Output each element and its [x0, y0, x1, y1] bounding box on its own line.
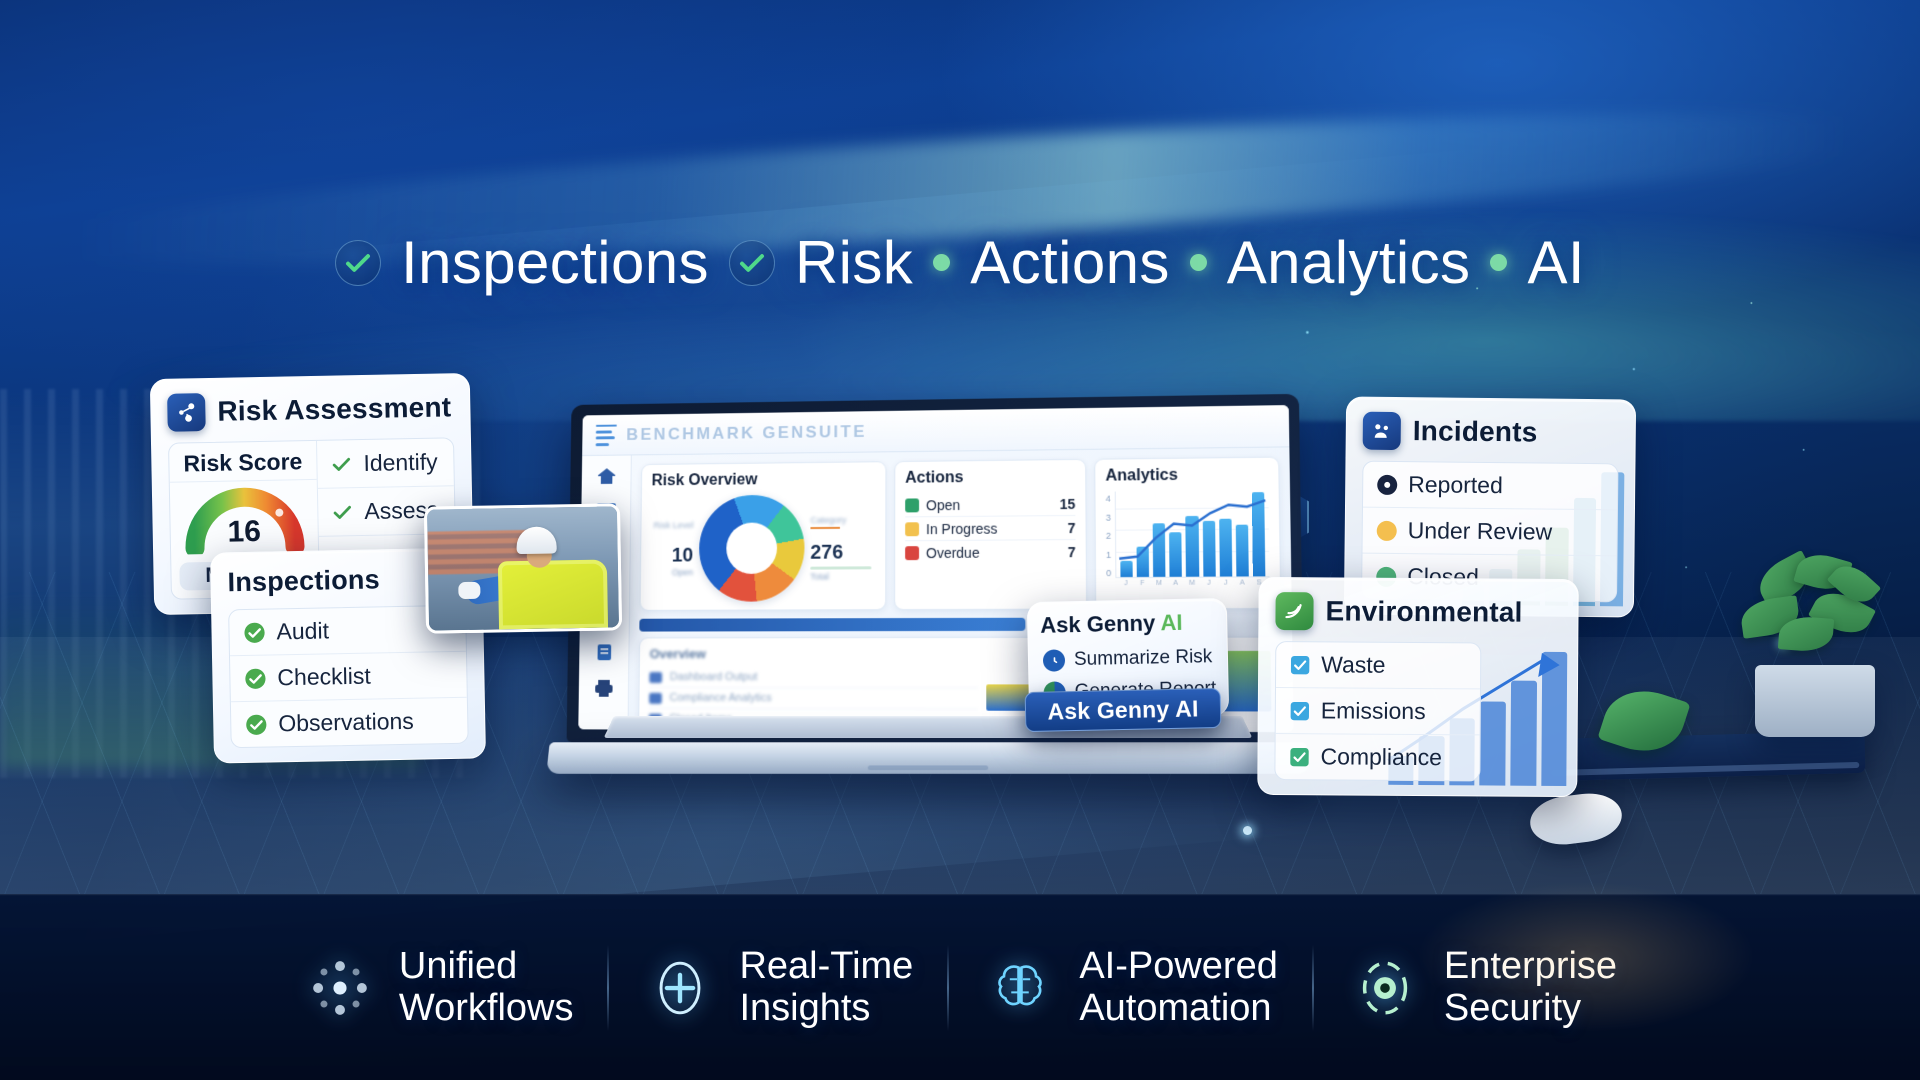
ask-genny-action-summarize-risk[interactable]: Summarize Risk	[1041, 641, 1216, 677]
check-circle-icon	[245, 713, 267, 735]
actions-row-open[interactable]: Open 15	[905, 492, 1075, 517]
sparkle	[1243, 826, 1252, 835]
analytics-panel: Analytics 4 3 2 1 0	[1094, 457, 1281, 610]
analytics-y-tick: 2	[1106, 531, 1111, 541]
feature-label: Unified Workflows	[399, 946, 574, 1028]
ask-genny-title-ai: AI	[1160, 610, 1183, 635]
analytics-x-tick: J	[1219, 580, 1232, 587]
feature-label-line2: Insights	[739, 988, 913, 1029]
desk-notebook	[1545, 731, 1866, 781]
dashboard-top-row: Risk Overview Risk Level 10 Open	[640, 457, 1282, 611]
lower-row-label: Dashboard Output	[670, 671, 758, 683]
ask-genny-title-main: Ask Genny	[1040, 610, 1161, 638]
environmental-item-label: Waste	[1321, 651, 1386, 678]
risk-score-label: Risk Score	[169, 441, 317, 483]
photo-safety-vest	[498, 560, 607, 630]
risk-overview-title: Risk Overview	[652, 470, 876, 490]
risk-overview-panel: Risk Overview Risk Level 10 Open	[640, 461, 887, 611]
feature-label: Enterprise Security	[1444, 946, 1617, 1028]
feature-label-line2: Security	[1444, 988, 1617, 1029]
incidents-item-reported[interactable]: Reported	[1363, 462, 1617, 511]
risk-kpi-left-caption: Open	[651, 567, 694, 577]
risk-legend-left: Risk Level	[651, 520, 694, 530]
feature-enterprise-security[interactable]: Enterprise Security	[1314, 946, 1651, 1028]
status-dot-amber-icon	[1377, 520, 1397, 540]
incidents-item-label: Reported	[1408, 471, 1503, 499]
hero-banner: Inspections Risk Actions Analytics AI BE…	[0, 0, 1920, 1080]
analytics-x-tick: F	[1136, 580, 1149, 587]
risk-score-value: 16	[170, 514, 318, 551]
leaf-growth-icon	[1275, 592, 1313, 630]
lower-panel-row[interactable]: Compliance Analytics	[649, 688, 978, 710]
inspections-item-label: Observations	[278, 708, 414, 738]
risk-kpi-right-value: 276	[810, 542, 871, 562]
actions-row-overdue[interactable]: Overdue 7	[905, 540, 1076, 564]
section-ribbon	[639, 618, 1025, 632]
actions-row-label: Open	[926, 497, 960, 513]
ask-genny-action-label: Summarize Risk	[1074, 646, 1213, 671]
photo-glove	[459, 581, 481, 598]
analytics-trend-line	[1116, 490, 1270, 577]
card-header: Environmental	[1275, 592, 1561, 632]
check-circle-icon	[244, 667, 266, 689]
inspector-photo	[424, 503, 622, 633]
feature-bar: Unified Workflows Real-Time Insights	[0, 894, 1920, 1080]
analytics-x-tick: J	[1119, 580, 1132, 587]
actions-panel: Actions Open 15 In Progress 7	[894, 459, 1087, 610]
checkbox-icon	[1290, 701, 1310, 721]
environmental-title: Environmental	[1325, 595, 1522, 628]
risk-kpi-left-value: 10	[651, 546, 694, 566]
environmental-card[interactable]: Environmental Waste Emissions Compliance	[1257, 577, 1579, 797]
status-dot-dark-icon	[1377, 474, 1397, 494]
analytics-x-tick: M	[1186, 580, 1199, 587]
headline-item-inspections: Inspections	[401, 228, 709, 297]
status-swatch-open-icon	[905, 498, 919, 512]
potted-plant-leaves	[1735, 555, 1900, 680]
feature-ai-powered-automation[interactable]: AI-Powered Automation	[949, 946, 1312, 1028]
analytics-x-tick: A	[1236, 579, 1249, 586]
inspections-title: Inspections	[227, 564, 380, 598]
actions-row-label: Overdue	[926, 544, 980, 560]
feature-unified-workflows[interactable]: Unified Workflows	[269, 946, 608, 1028]
headline-item-analytics: Analytics	[1227, 228, 1471, 297]
inspections-item-label: Checklist	[277, 663, 371, 692]
environmental-item-label: Compliance	[1320, 743, 1442, 771]
risk-step-identify[interactable]: Identify	[317, 438, 454, 489]
incident-people-icon	[1363, 412, 1401, 450]
brand-logo-icon	[596, 424, 617, 446]
actions-row-label: In Progress	[926, 520, 998, 537]
actions-panel-title: Actions	[905, 468, 1075, 488]
home-icon[interactable]	[595, 465, 618, 486]
environmental-item-waste[interactable]: Waste	[1276, 642, 1480, 689]
potted-plant-pot	[1755, 665, 1875, 737]
incidents-item-under-review[interactable]: Under Review	[1363, 508, 1617, 557]
analytics-x-tick: J	[1203, 580, 1216, 587]
check-circle-icon	[335, 240, 381, 286]
risk-legend-right: Category	[810, 514, 871, 524]
incidents-item-label: Under Review	[1408, 517, 1553, 546]
status-swatch-overdue-icon	[905, 546, 919, 560]
environmental-item-emissions[interactable]: Emissions	[1276, 688, 1480, 735]
lower-panel-title: Overview	[650, 646, 979, 661]
report-icon[interactable]	[592, 641, 615, 662]
environmental-item-compliance[interactable]: Compliance	[1275, 734, 1479, 780]
feature-label-line1: Enterprise	[1444, 945, 1617, 987]
analytics-y-tick: 3	[1106, 512, 1111, 522]
checkbox-icon	[1289, 747, 1309, 767]
analytics-y-tick: 0	[1106, 568, 1111, 578]
desk-mouse	[1527, 790, 1624, 849]
incidents-title: Incidents	[1413, 415, 1538, 448]
feature-label-line1: AI-Powered	[1079, 945, 1278, 987]
bullet-dot-icon	[933, 254, 950, 271]
realtime-insights-icon	[643, 951, 717, 1025]
check-circle-icon	[243, 621, 265, 643]
feature-label-line1: Unified	[399, 945, 517, 987]
analytics-y-tick: 1	[1106, 549, 1111, 559]
feature-label-line2: Workflows	[399, 988, 574, 1029]
ask-genny-ai-button[interactable]: Ask Genny AI	[1025, 688, 1222, 732]
checkbox-icon	[1290, 655, 1310, 675]
unified-workflows-icon	[303, 951, 377, 1025]
headline-item-ai: AI	[1527, 228, 1585, 297]
check-icon	[330, 453, 352, 475]
risk-assessment-title: Risk Assessment	[217, 391, 451, 427]
feature-label-line2: Automation	[1079, 988, 1278, 1029]
analytics-x-tick: A	[1169, 580, 1182, 587]
environmental-list: Waste Emissions Compliance	[1274, 641, 1481, 781]
feature-realtime-insights[interactable]: Real-Time Insights	[609, 946, 947, 1028]
feature-label: AI-Powered Automation	[1079, 946, 1278, 1028]
analytics-x-tick: M	[1153, 580, 1166, 587]
clock-icon	[1043, 649, 1065, 671]
analytics-axis: JFMAMJJAS	[1115, 577, 1269, 587]
card-header: Incidents	[1363, 412, 1619, 453]
actions-row-in-progress[interactable]: In Progress 7	[905, 516, 1075, 541]
analytics-y-tick: 4	[1106, 494, 1111, 504]
status-swatch-in-progress-icon	[905, 522, 919, 536]
environmental-item-label: Emissions	[1321, 697, 1426, 725]
print-icon[interactable]	[592, 677, 615, 698]
risk-overview-chart: Risk Level 10 Open Category 276	[650, 494, 875, 602]
headline-item-risk: Risk	[795, 228, 913, 297]
actions-row-value: 7	[1068, 544, 1076, 560]
bullet-dot-icon	[1190, 254, 1207, 271]
ask-genny-title: Ask Genny AI	[1040, 609, 1215, 639]
risk-network-icon	[167, 393, 206, 432]
card-header: Risk Assessment	[167, 388, 454, 431]
lower-panel-row[interactable]: Dashboard Output	[649, 667, 978, 688]
feature-label-line1: Real-Time	[739, 945, 913, 987]
risk-step-label: Identify	[363, 449, 438, 477]
bullet-dot-icon	[1490, 254, 1507, 271]
actions-row-value: 15	[1060, 495, 1076, 511]
feature-label: Real-Time Insights	[739, 946, 913, 1028]
row-icon	[649, 692, 662, 703]
risk-donut-chart	[699, 495, 805, 602]
inspections-item-observations[interactable]: Observations	[231, 698, 468, 748]
row-icon	[649, 672, 662, 683]
ai-brain-icon	[983, 951, 1057, 1025]
laptop-base	[546, 742, 1309, 774]
lower-row-label: Compliance Analytics	[670, 692, 772, 704]
analytics-panel-title: Analytics	[1105, 466, 1268, 486]
risk-kpi-right-caption: Total	[810, 571, 871, 581]
brand-name: BENCHMARK GENSUITE	[626, 422, 867, 445]
inspections-item-checklist[interactable]: Checklist	[230, 652, 467, 703]
headline: Inspections Risk Actions Analytics AI	[0, 228, 1920, 297]
check-icon	[331, 501, 353, 523]
inspections-item-label: Audit	[276, 617, 329, 645]
headline-item-actions: Actions	[970, 228, 1170, 297]
actions-row-value: 7	[1068, 519, 1076, 535]
enterprise-security-icon	[1348, 951, 1422, 1025]
analytics-chart	[1115, 490, 1270, 578]
check-circle-icon	[729, 240, 775, 286]
